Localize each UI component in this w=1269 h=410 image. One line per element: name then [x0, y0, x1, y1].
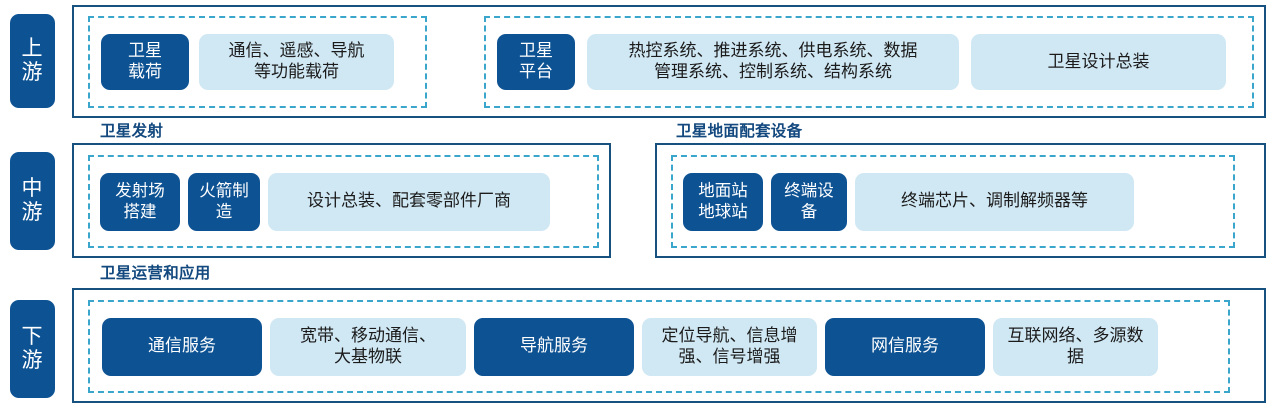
- pill-design-assembly-parts-suppliers[interactable]: 设计总装、配套零部件厂商: [268, 173, 550, 231]
- pill-communication-service-detail[interactable]: 宽带、移动通信、 大基物联: [270, 318, 466, 376]
- upstream-panel: 卫星 载荷 通信、遥感、导航 等功能载荷 卫星 平台 热控系统、推进系统、供电系…: [72, 5, 1266, 118]
- satellite-industry-chain-diagram: 上 游 中 游 下 游 卫星 载荷 通信、遥感、导航 等功能载荷 卫星 平台 热…: [0, 0, 1269, 410]
- stage-tab-midstream-char-1: 中: [22, 177, 44, 201]
- downstream-panel: 通信服务 宽带、移动通信、 大基物联 导航服务 定位导航、信息增 强、信号增强 …: [72, 288, 1266, 403]
- pill-satellite-payload-detail[interactable]: 通信、遥感、导航 等功能载荷: [199, 34, 394, 90]
- pill-launch-site-construction[interactable]: 发射场 搭建: [100, 173, 180, 231]
- midstream-panel-launch: 发射场 搭建 火箭制 造 设计总装、配套零部件厂商: [72, 143, 611, 258]
- pill-satellite-design-assembly[interactable]: 卫星设计总装: [971, 34, 1226, 90]
- pill-terminal-equipment[interactable]: 终端设 备: [771, 173, 847, 231]
- pill-navigation-service-detail[interactable]: 定位导航、信息增 强、信号增强: [642, 318, 817, 376]
- midstream-panel-ground-equipment: 地面站 地球站 终端设 备 终端芯片、调制解频器等: [655, 143, 1266, 258]
- pill-communication-service[interactable]: 通信服务: [102, 318, 262, 376]
- group-launch: 发射场 搭建 火箭制 造 设计总装、配套零部件厂商: [88, 155, 599, 248]
- pill-satellite-platform-title[interactable]: 卫星 平台: [497, 34, 575, 90]
- stage-tab-midstream-char-2: 游: [22, 201, 44, 225]
- group-ground-equipment: 地面站 地球站 终端设 备 终端芯片、调制解频器等: [671, 155, 1235, 248]
- pill-ground-station-earth-station[interactable]: 地面站 地球站: [683, 173, 763, 231]
- pill-network-information-service-detail[interactable]: 互联网络、多源数 据: [993, 318, 1158, 376]
- stage-tab-upstream[interactable]: 上 游: [10, 14, 55, 108]
- group-satellite-payload: 卫星 载荷 通信、遥感、导航 等功能载荷: [88, 16, 427, 108]
- pill-terminal-chips-modem[interactable]: 终端芯片、调制解频器等: [855, 173, 1134, 231]
- pill-navigation-service[interactable]: 导航服务: [474, 318, 634, 376]
- stage-tab-upstream-char-1: 上: [22, 37, 44, 61]
- pill-network-information-service[interactable]: 网信服务: [825, 318, 985, 376]
- stage-tab-midstream[interactable]: 中 游: [10, 152, 55, 250]
- stage-tab-downstream-char-2: 游: [22, 349, 44, 373]
- row-label-satellite-ground-equipment: 卫星地面配套设备: [676, 119, 802, 141]
- stage-tab-downstream[interactable]: 下 游: [10, 300, 55, 398]
- pill-satellite-payload-title[interactable]: 卫星 载荷: [101, 34, 189, 90]
- row-label-satellite-launch: 卫星发射: [100, 119, 163, 141]
- group-downstream-services: 通信服务 宽带、移动通信、 大基物联 导航服务 定位导航、信息增 强、信号增强 …: [88, 300, 1230, 393]
- pill-satellite-platform-subsystems[interactable]: 热控系统、推进系统、供电系统、数据 管理系统、控制系统、结构系统: [587, 34, 959, 90]
- row-label-satellite-operation-application: 卫星运营和应用: [100, 261, 211, 283]
- stage-tab-upstream-char-2: 游: [22, 61, 44, 85]
- stage-tab-downstream-char-1: 下: [22, 325, 44, 349]
- pill-rocket-manufacturing[interactable]: 火箭制 造: [188, 173, 260, 231]
- group-satellite-platform: 卫星 平台 热控系统、推进系统、供电系统、数据 管理系统、控制系统、结构系统 卫…: [484, 16, 1254, 108]
